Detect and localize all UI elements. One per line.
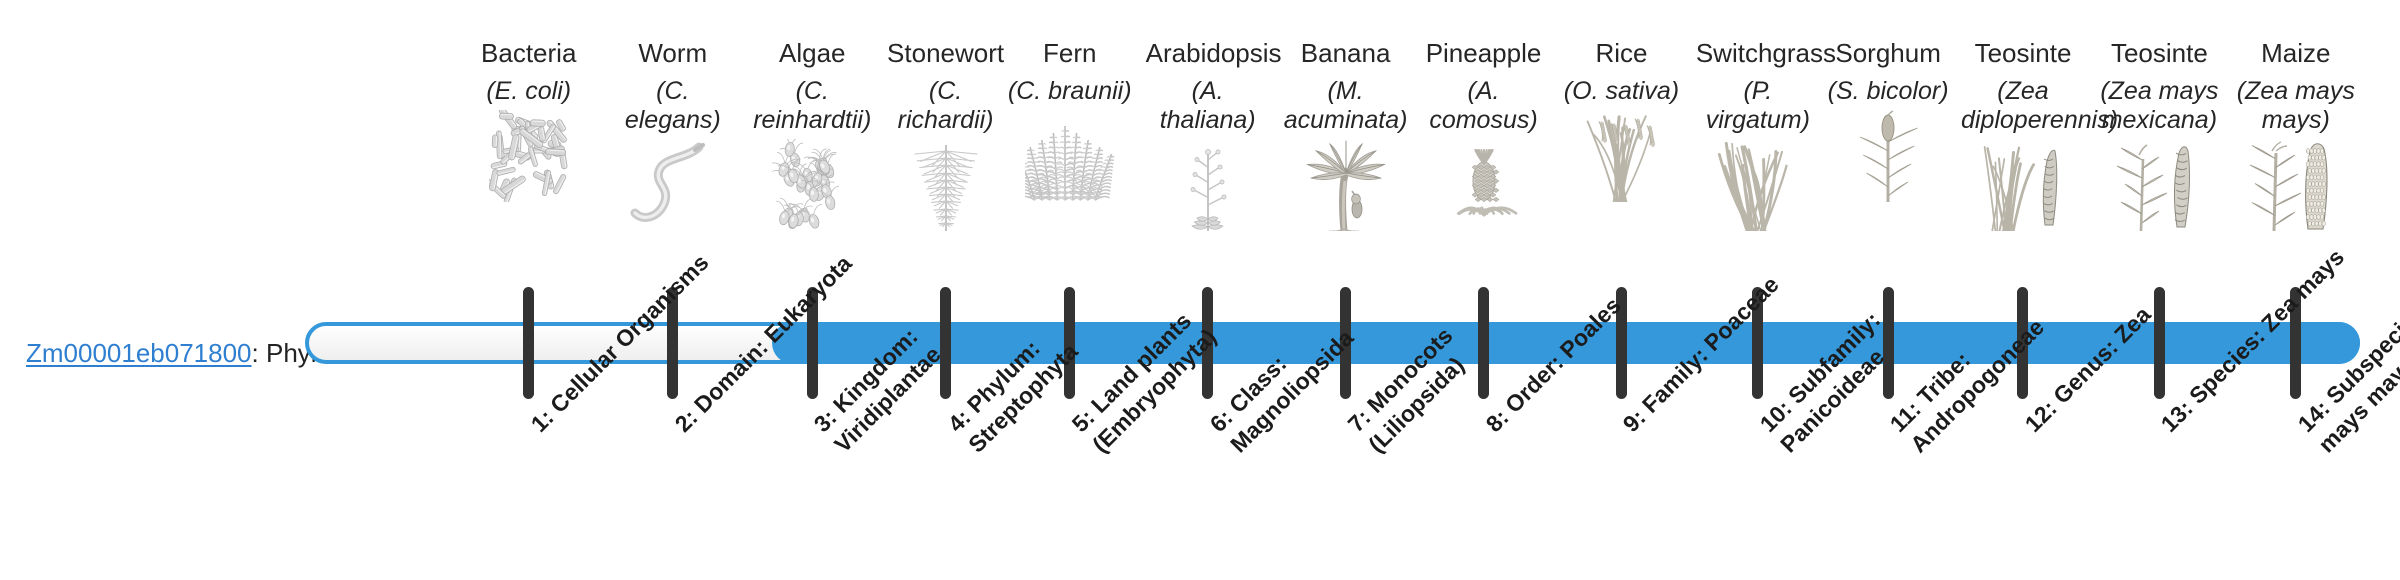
species-scientific-name: (Zea mays mexicana) (2097, 77, 2221, 135)
species-column-teosinte-12: Teosinte(Zea mays mexicana) (2097, 38, 2221, 231)
species-scientific-name: (C. elegans) (611, 77, 735, 135)
species-common-name: Fern (1008, 38, 1132, 68)
species-scientific-name: (P. virgatum) (1696, 77, 1820, 135)
teosinte-diploperennis-icon (1961, 139, 2085, 231)
rice-plant-icon (1559, 110, 1683, 202)
species-column-algae-2: Algae(C. reinhardtii) (750, 38, 874, 231)
arabidopsis-icon (1146, 139, 1270, 231)
teosinte-mexicana-icon (2097, 139, 2221, 231)
gene-label-separator: : (252, 338, 266, 368)
species-column-pineapple-7: Pineapple(A. comosus) (1422, 38, 1546, 231)
species-common-name: Worm (611, 38, 735, 68)
species-scientific-name: (O. sativa) (1559, 77, 1683, 106)
bacteria-rods-icon (467, 110, 591, 202)
species-column-arabidopsis-5: Arabidopsis(A. thaliana) (1146, 38, 1270, 231)
species-common-name: Switchgrass (1696, 38, 1820, 68)
species-scientific-name: (C. reinhardtii) (750, 77, 874, 135)
species-common-name: Rice (1559, 38, 1683, 68)
species-common-name: Teosinte (1961, 38, 2085, 68)
sorghum-icon (1826, 110, 1950, 202)
species-common-name: Stonewort (884, 38, 1008, 68)
species-common-name: Maize (2234, 38, 2358, 68)
species-common-name: Bacteria (467, 38, 591, 68)
species-common-name: Banana (1284, 38, 1408, 68)
maize-icon (2234, 139, 2358, 231)
phylostratum-timeline: Zm00001eb071800: Phylostratum 3 Bacteria… (0, 0, 2400, 580)
species-scientific-name: (A. thaliana) (1146, 77, 1270, 135)
species-scientific-name: (S. bicolor) (1826, 77, 1950, 106)
species-scientific-name: (Zea diploperennis) (1961, 77, 2085, 135)
stratum-tick-1[interactable] (523, 287, 534, 399)
algae-cells-icon (750, 139, 874, 231)
species-column-rice-8: Rice(O. sativa) (1559, 38, 1683, 202)
gene-id-link[interactable]: Zm00001eb071800 (26, 338, 252, 368)
stonewort-icon (884, 139, 1008, 231)
fern-frond-icon (1008, 110, 1132, 202)
switchgrass-icon (1696, 139, 1820, 231)
species-common-name: Teosinte (2097, 38, 2221, 68)
species-scientific-name: (M. acuminata) (1284, 77, 1408, 135)
banana-plant-icon (1284, 139, 1408, 231)
species-scientific-name: (C. braunii) (1008, 77, 1132, 106)
species-column-fern-4: Fern(C. braunii) (1008, 38, 1132, 202)
species-column-sorghum-10: Sorghum(S. bicolor) (1826, 38, 1950, 202)
species-scientific-name: (Zea mays mays) (2234, 77, 2358, 135)
species-common-name: Arabidopsis (1146, 38, 1270, 68)
nematode-worm-icon (611, 139, 735, 231)
species-common-name: Algae (750, 38, 874, 68)
species-column-switchgrass-9: Switchgrass(P. virgatum) (1696, 38, 1820, 231)
species-column-worm-1: Worm(C. elegans) (611, 38, 735, 231)
species-column-banana-6: Banana(M. acuminata) (1284, 38, 1408, 231)
species-scientific-name: (A. comosus) (1422, 77, 1546, 135)
species-common-name: Sorghum (1826, 38, 1950, 68)
species-column-maize-13: Maize(Zea mays mays) (2234, 38, 2358, 231)
species-column-bacteria-0: Bacteria(E. coli) (467, 38, 591, 202)
species-scientific-name: (E. coli) (467, 77, 591, 106)
stratum-number: 12: (2020, 395, 2062, 437)
species-scientific-name: (C. richardii) (884, 77, 1008, 135)
species-common-name: Pineapple (1422, 38, 1546, 68)
stratum-number: 13: (2156, 395, 2198, 437)
species-column-stonewort-3: Stonewort(C. richardii) (884, 38, 1008, 231)
pineapple-icon (1422, 139, 1546, 231)
species-column-teosinte-11: Teosinte(Zea diploperennis) (1961, 38, 2085, 231)
